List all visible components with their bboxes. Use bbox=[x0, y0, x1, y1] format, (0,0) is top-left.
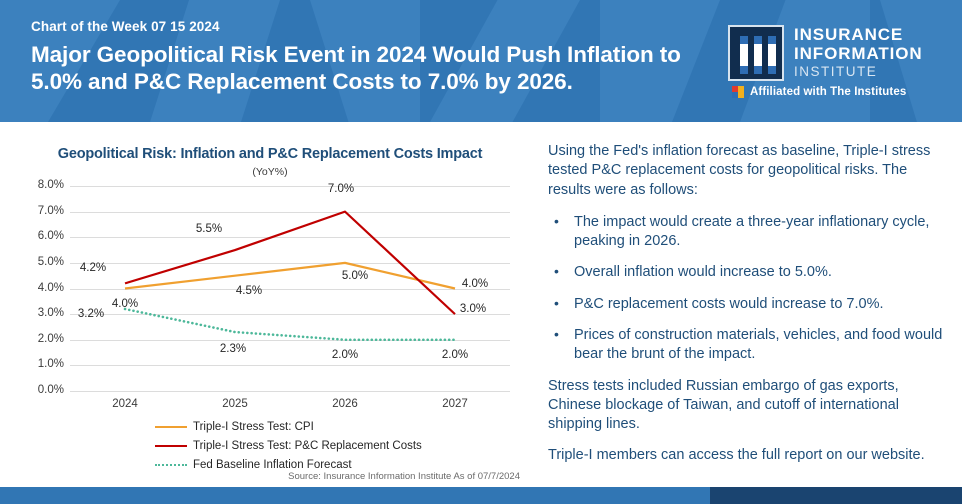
y-axis-tick: 4.0% bbox=[8, 282, 64, 294]
x-axis-tick: 2027 bbox=[415, 398, 495, 410]
legend-item[interactable]: Triple-I Stress Test: CPI bbox=[155, 418, 422, 435]
chart-panel: Geopolitical Risk: Inflation and P&C Rep… bbox=[0, 122, 540, 482]
x-axis-tick: 2026 bbox=[305, 398, 385, 410]
data-point-label: 4.0% bbox=[105, 298, 145, 310]
data-point-label: 7.0% bbox=[321, 183, 361, 195]
triple-i-logo: INSURANCE INFORMATION INSTITUTE Affiliat… bbox=[728, 25, 938, 103]
chart-of-the-week-page: Chart of the Week 07 15 2024 Major Geopo… bbox=[0, 0, 962, 504]
y-axis-tick: 0.0% bbox=[8, 384, 64, 396]
x-axis-tick: 2024 bbox=[85, 398, 165, 410]
chart-subtitle: (YoY%) bbox=[0, 166, 540, 178]
data-point-label: 2.3% bbox=[213, 343, 253, 355]
data-point-label: 4.0% bbox=[455, 278, 495, 290]
data-point-label: 4.5% bbox=[229, 285, 269, 297]
page-header: Chart of the Week 07 15 2024 Major Geopo… bbox=[0, 0, 962, 122]
y-axis-tick: 5.0% bbox=[8, 256, 64, 268]
y-axis-tick: 3.0% bbox=[8, 307, 64, 319]
bullet-icon: • bbox=[554, 212, 559, 231]
series-line bbox=[125, 212, 455, 315]
legend-swatch bbox=[155, 441, 187, 451]
footer-bar bbox=[0, 487, 962, 504]
bullet-icon: • bbox=[554, 325, 559, 344]
summary-bullet: •Overall inflation would increase to 5.0… bbox=[548, 263, 946, 282]
y-axis-tick: 1.0% bbox=[8, 358, 64, 370]
data-point-label: 3.2% bbox=[71, 308, 111, 320]
y-axis-tick: 8.0% bbox=[8, 179, 64, 191]
summary-intro: Using the Fed's inflation forecast as ba… bbox=[548, 142, 946, 200]
summary-bullet: •Prices of construction materials, vehic… bbox=[548, 326, 946, 365]
header-kicker: Chart of the Week 07 15 2024 bbox=[31, 19, 220, 34]
chart-title: Geopolitical Risk: Inflation and P&C Rep… bbox=[0, 146, 540, 162]
data-point-label: 2.0% bbox=[325, 349, 365, 361]
summary-bullet-text: Overall inflation would increase to 5.0%… bbox=[574, 264, 832, 280]
gridline bbox=[70, 391, 510, 392]
data-point-label: 3.0% bbox=[453, 303, 493, 315]
bullet-icon: • bbox=[554, 294, 559, 313]
logo-line-1: INSURANCE bbox=[794, 25, 923, 44]
data-point-label: 2.0% bbox=[435, 349, 475, 361]
summary-bullet: •P&C replacement costs would increase to… bbox=[548, 295, 946, 314]
bullet-icon: • bbox=[554, 262, 559, 281]
summary-panel: Using the Fed's inflation forecast as ba… bbox=[548, 142, 946, 478]
legend-label: Triple-I Stress Test: P&C Replacement Co… bbox=[193, 440, 422, 452]
data-point-label: 5.0% bbox=[335, 270, 375, 282]
summary-stress-tests: Stress tests included Russian embargo of… bbox=[548, 377, 946, 435]
summary-bullet-text: P&C replacement costs would increase to … bbox=[574, 296, 883, 312]
data-point-label: 4.2% bbox=[73, 262, 113, 274]
page-title: Major Geopolitical Risk Event in 2024 Wo… bbox=[31, 41, 691, 96]
y-axis-tick: 2.0% bbox=[8, 333, 64, 345]
footer-bar-right bbox=[710, 487, 962, 504]
legend-label: Triple-I Stress Test: CPI bbox=[193, 421, 314, 433]
logo-line-3: INSTITUTE bbox=[794, 63, 923, 81]
summary-bullet: •The impact would create a three-year in… bbox=[548, 213, 946, 252]
affiliation-badge: Affiliated with The Institutes bbox=[732, 86, 906, 98]
affiliation-label: Affiliated with The Institutes bbox=[750, 86, 906, 98]
series-line bbox=[125, 309, 455, 340]
x-axis-tick: 2025 bbox=[195, 398, 275, 410]
summary-bullet-text: Prices of construction materials, vehicl… bbox=[574, 327, 942, 362]
institutes-flag-icon bbox=[732, 86, 744, 98]
footer-bar-left bbox=[0, 487, 710, 504]
summary-bullet-list: •The impact would create a three-year in… bbox=[548, 213, 946, 365]
data-point-label: 5.5% bbox=[189, 223, 229, 235]
y-axis-tick: 7.0% bbox=[8, 205, 64, 217]
y-axis-tick: 6.0% bbox=[8, 230, 64, 242]
logo-wordmark: INSURANCE INFORMATION INSTITUTE bbox=[794, 25, 923, 81]
summary-members: Triple-I members can access the full rep… bbox=[548, 446, 946, 465]
institute-pillars-icon bbox=[728, 25, 784, 81]
summary-bullet-text: The impact would create a three-year inf… bbox=[574, 214, 929, 249]
legend-swatch bbox=[155, 422, 187, 432]
chart-source: Source: Insurance Information Institute … bbox=[0, 471, 520, 482]
legend-label: Fed Baseline Inflation Forecast bbox=[193, 459, 352, 471]
legend-item[interactable]: Triple-I Stress Test: P&C Replacement Co… bbox=[155, 437, 422, 454]
logo-line-2: INFORMATION bbox=[794, 44, 923, 63]
legend-swatch bbox=[155, 460, 187, 470]
chart-legend: Triple-I Stress Test: CPITriple-I Stress… bbox=[155, 418, 422, 475]
